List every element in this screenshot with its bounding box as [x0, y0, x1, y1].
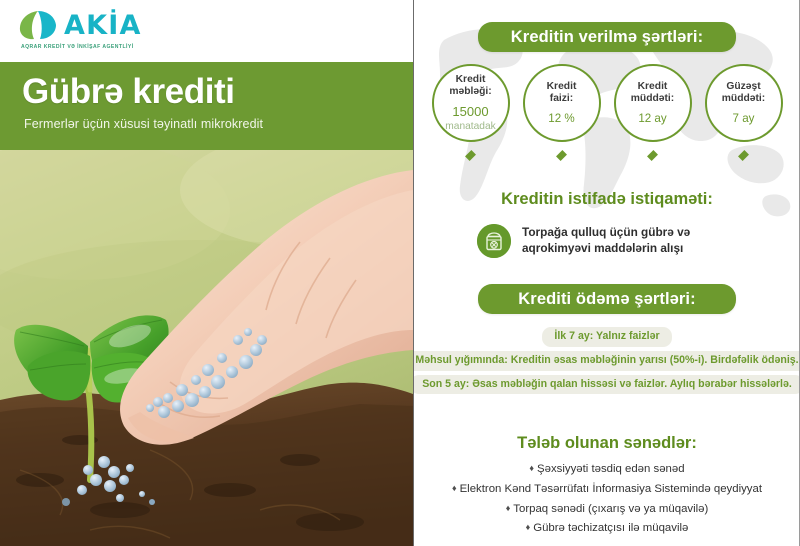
- term-label-line2: faizi:: [550, 93, 573, 104]
- term-label: Kredit faizi:: [547, 81, 577, 106]
- term-label-line2: müddəti:: [631, 93, 674, 104]
- term-label: Güzəşt müddəti:: [722, 81, 765, 106]
- leaf-logo-icon: [18, 9, 58, 41]
- diamond-bullet-icon: ♦: [529, 463, 534, 473]
- akia-logo: AKİA AQRAR KREDİT VƏ İNKİŞAF AGENTLİYİ: [18, 9, 142, 50]
- logo-zone: AKİA AQRAR KREDİT VƏ İNKİŞAF AGENTLİYİ: [0, 0, 413, 62]
- document-item: ♦Şəxsiyyəti təsdiq edən sənəd: [414, 460, 800, 480]
- term-label-line1: Kredit: [547, 81, 577, 92]
- page-subtitle: Fermerlər üçün xüsusi təyinatlı mikrokre…: [24, 117, 413, 131]
- diamond-icon: [465, 150, 476, 161]
- usage-description: Torpağa qulluq üçün gübrə və aqrokimyəvi…: [522, 225, 737, 256]
- right-panel: Kreditin verilmə şərtləri: Kredit məbləğ…: [414, 0, 800, 546]
- repayment-banner: Krediti ödəmə şərtləri:: [478, 284, 736, 314]
- term-label-line2: müddəti:: [722, 93, 765, 104]
- usage-section-title: Kreditin istifadə istiqaməti:: [414, 190, 800, 209]
- terms-banner-label: Kreditin verilmə şərtləri:: [511, 28, 703, 47]
- term-value: 12 ay: [638, 112, 666, 125]
- term-label-line2: məbləği:: [449, 86, 491, 97]
- diamond-bullet-icon: ♦: [526, 522, 531, 532]
- term-value: 12 %: [548, 112, 574, 125]
- logo-subtitle: AQRAR KREDİT VƏ İNKİŞAF AGENTLİYİ: [21, 44, 134, 50]
- repayment-item: İlk 7 ay: Yalnız faizlər: [542, 327, 671, 347]
- term-value: 15000: [452, 105, 488, 120]
- document-item-label: Gübrə təchizatçısı ilə müqavilə: [533, 522, 688, 534]
- term-label-line1: Kredit: [456, 74, 486, 85]
- logo-row: AKİA: [18, 9, 142, 41]
- usage-row: Torpağa qulluq üçün gübrə və aqrokimyəvi…: [414, 224, 800, 258]
- repayment-banner-label: Krediti ödəmə şərtləri:: [518, 290, 695, 309]
- terms-circles-row: Kredit məbləği: 15000 manatadak Kredit f…: [414, 64, 800, 142]
- diamond-marker-row: [414, 151, 800, 160]
- diamond-cell: [523, 151, 601, 160]
- diamond-icon: [556, 150, 567, 161]
- term-circle-interest-rate: Kredit faizi: 12 %: [523, 64, 601, 142]
- term-value: 7 ay: [733, 112, 755, 125]
- document-item-label: Torpaq sənədi (çıxarış və ya müqavilə): [513, 503, 708, 515]
- term-note: manatadak: [445, 121, 495, 133]
- term-label: Kredit müddəti:: [631, 81, 674, 106]
- hero-green-band: Gübrə krediti Fermerlər üçün xüsusi təyi…: [0, 62, 413, 150]
- logo-wordmark: AKİA: [64, 12, 142, 39]
- page-title: Gübrə krediti: [22, 74, 413, 110]
- document-item: ♦Gübrə təchizatçısı ilə müqavilə: [414, 519, 800, 539]
- hero-photo: [0, 150, 413, 546]
- term-circle-loan-period: Kredit müddəti: 12 ay: [614, 64, 692, 142]
- repayment-conditions-list: İlk 7 ay: Yalnız faizlər Məhsul yığımınd…: [414, 327, 800, 394]
- left-panel: AKİA AQRAR KREDİT VƏ İNKİŞAF AGENTLİYİ G…: [0, 0, 414, 546]
- term-circle-grace-period: Güzəşt müddəti: 7 ay: [705, 64, 783, 142]
- diamond-icon: [647, 150, 658, 161]
- term-label-line1: Güzəşt: [726, 81, 760, 92]
- infographic-page: AKİA AQRAR KREDİT VƏ İNKİŞAF AGENTLİYİ G…: [0, 0, 800, 546]
- document-item: ♦Torpaq sənədi (çıxarış və ya müqavilə): [414, 500, 800, 520]
- document-item: ♦Elektron Kənd Təsərrüfatı İnformasiya S…: [414, 480, 800, 500]
- document-item-label: Şəxsiyyəti təsdiq edən sənəd: [537, 463, 685, 475]
- diamond-bullet-icon: ♦: [506, 503, 511, 513]
- diamond-cell: [432, 151, 510, 160]
- diamond-cell: [614, 151, 692, 160]
- term-circle-loan-amount: Kredit məbləği: 15000 manatadak: [432, 64, 510, 142]
- diamond-icon: [738, 150, 749, 161]
- documents-list: ♦Şəxsiyyəti təsdiq edən sənəd ♦Elektron …: [414, 460, 800, 538]
- terms-banner: Kreditin verilmə şərtləri:: [478, 22, 736, 52]
- fertilizer-bag-icon: [477, 224, 511, 258]
- term-label: Kredit məbləği:: [449, 74, 491, 99]
- document-item-label: Elektron Kənd Təsərrüfatı İnformasiya Si…: [460, 483, 762, 495]
- repayment-item: Məhsul yığımında: Kreditin əsas məbləğin…: [414, 351, 800, 371]
- diamond-bullet-icon: ♦: [452, 483, 457, 493]
- diamond-cell: [705, 151, 783, 160]
- documents-section-title: Tələb olunan sənədlər:: [414, 434, 800, 453]
- term-label-line1: Kredit: [638, 81, 668, 92]
- documents-block: Tələb olunan sənədlər: ♦Şəxsiyyəti təsdi…: [414, 434, 800, 538]
- repayment-item: Son 5 ay: Əsas məbləğin qalan hissəsi və…: [414, 375, 800, 395]
